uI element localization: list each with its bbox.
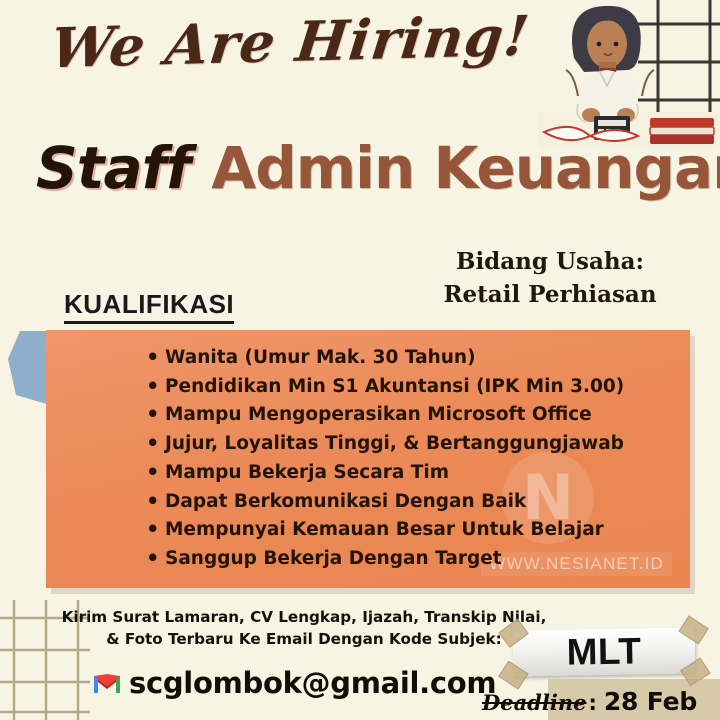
gmail-icon bbox=[92, 672, 122, 695]
list-item: Wanita (Umur Mak. 30 Tahun) bbox=[146, 344, 624, 373]
deadline-label: Deadline bbox=[482, 690, 586, 715]
instructions-line-2: & Foto Terbaru Ke Email Dengan Kode Subj… bbox=[34, 628, 574, 650]
list-item: Dapat Berkomunikasi Dengan Baik bbox=[146, 488, 624, 517]
contact-email-text: scglombok@gmail.com bbox=[129, 666, 496, 700]
list-item: Mampu Bekerja Secara Tim bbox=[146, 459, 624, 488]
contact-email-row[interactable]: scglombok@gmail.com bbox=[92, 666, 496, 700]
subject-code-note: MLT bbox=[513, 627, 696, 676]
list-item: Sanggup Bekerja Dengan Target bbox=[146, 545, 624, 574]
qualifications-list: Wanita (Umur Mak. 30 Tahun) Pendidikan M… bbox=[146, 344, 624, 574]
deadline-date: 28 Feb 2023 bbox=[604, 687, 720, 720]
business-field-value: Retail Perhiasan bbox=[408, 279, 692, 312]
page-title: Staff Admin Keuangan bbox=[36, 139, 720, 197]
job-title-staff: Staff bbox=[36, 134, 190, 202]
instructions-line-1: Kirim Surat Lamaran, CV Lengkap, Ijazah,… bbox=[34, 606, 574, 628]
business-field-label: Bidang Usaha: bbox=[408, 246, 692, 279]
subject-code-text: MLT bbox=[513, 627, 696, 676]
list-item: Mampu Mengoperasikan Microsoft Office bbox=[146, 401, 624, 430]
deadline-row: Deadline : 28 Feb 2023 bbox=[482, 687, 720, 720]
list-item: Pendidikan Min S1 Akuntansi (IPK Min 3.0… bbox=[146, 373, 624, 402]
deadline-colon: : bbox=[588, 691, 596, 715]
office-worker-illustration bbox=[538, 0, 720, 148]
qualifications-panel: N WWW.NESIANET.ID Wanita (Umur Mak. 30 T… bbox=[46, 330, 690, 588]
job-poster: We Are Hiring! Staff Admin Keuangan Bida… bbox=[0, 0, 720, 720]
qualifications-heading: KUALIFIKASI bbox=[64, 289, 234, 324]
application-instructions: Kirim Surat Lamaran, CV Lengkap, Ijazah,… bbox=[34, 606, 574, 650]
headline-we-are-hiring: We Are Hiring! bbox=[48, 8, 532, 75]
job-title-role: Admin Keuangan bbox=[192, 134, 720, 202]
list-item: Jujur, Loyalitas Tinggi, & Bertanggungja… bbox=[146, 430, 624, 459]
business-field-block: Bidang Usaha: Retail Perhiasan bbox=[408, 246, 692, 311]
list-item: Mempunyai Kemauan Besar Untuk Belajar bbox=[146, 516, 624, 545]
